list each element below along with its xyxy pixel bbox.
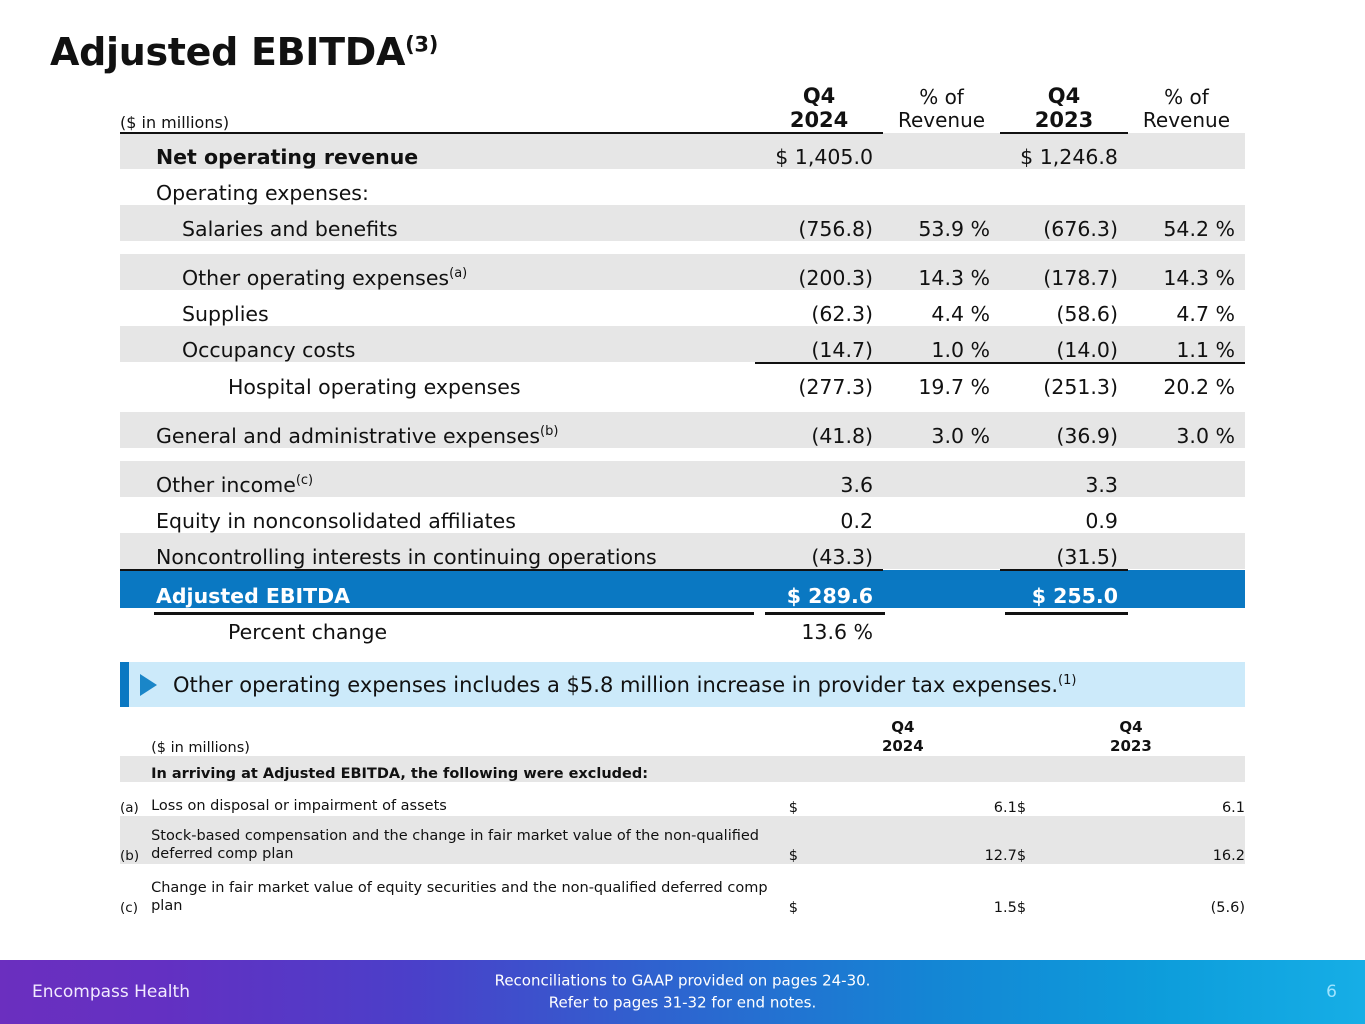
exclusions-intro-spacer: [120, 756, 151, 782]
exclusions-header-spacer: [120, 718, 151, 756]
ebitda-double-rule-label: [154, 612, 754, 615]
exclusion-description: Stock-based compensation and the change …: [151, 816, 789, 864]
row-value-2024: $ 289.6: [755, 570, 883, 608]
row-value-2023: $ 255.0: [1000, 570, 1128, 608]
row-pct-2023: [1128, 133, 1245, 169]
row-pct-2024: [883, 497, 1000, 533]
row-spacer: [120, 241, 1245, 254]
row-pct-2023: 20.2 %: [1128, 363, 1245, 399]
callout-footnote-marker: (1): [1058, 673, 1076, 688]
row-value-2023: $ 1,246.8: [1000, 133, 1128, 169]
exclusion-row: (b) Stock-based compensation and the cha…: [120, 816, 1245, 864]
exclusion-marker: (c): [120, 864, 151, 916]
row-label: Net operating revenue: [120, 133, 755, 169]
table-row: Net operating revenue $ 1,405.0 $ 1,246.…: [120, 133, 1245, 169]
exclusions-header-2024-line1: Q4: [891, 718, 914, 736]
row-pct-2023: 4.7 %: [1128, 290, 1245, 326]
exclusion-value-2024: 12.7: [830, 816, 1017, 864]
row-value-2023: (36.9): [1000, 412, 1128, 448]
exclusion-currency-2024: $: [789, 864, 830, 916]
exclusion-value-2023: (5.6): [1058, 864, 1245, 916]
row-label-text: Other income: [156, 473, 296, 497]
table-row: Hospital operating expenses (277.3) 19.7…: [120, 363, 1245, 399]
row-label: Salaries and benefits: [120, 205, 755, 241]
row-pct-2023: [1128, 497, 1245, 533]
header-q4-2024-line1: Q4: [803, 84, 835, 108]
row-label: Equity in nonconsolidated affiliates: [120, 497, 755, 533]
page-number: 6: [1326, 982, 1337, 1002]
callout-accent-bar: [120, 662, 129, 707]
header-pct-2024-line2: Revenue: [898, 108, 985, 132]
table-row: Supplies (62.3) 4.4 % (58.6) 4.7 %: [120, 290, 1245, 326]
header-pct-revenue-2023: % of Revenue: [1128, 84, 1245, 132]
row-value-2024: 0.2: [755, 497, 883, 533]
adjusted-ebitda-total-row: Adjusted EBITDA $ 289.6 $ 255.0: [120, 570, 1245, 608]
row-pct-2024: [883, 461, 1000, 497]
row-label: Noncontrolling interests in continuing o…: [120, 533, 755, 569]
header-pct-2024-line1: % of: [919, 85, 964, 109]
header-pct-2023-line2: Revenue: [1143, 108, 1230, 132]
table-row: Other operating expenses(a) (200.3) 14.3…: [120, 254, 1245, 290]
ebitda-double-rule-v2: [1005, 612, 1128, 615]
exclusion-currency-2023: $: [1017, 816, 1058, 864]
row-spacer: [120, 399, 1245, 412]
row-value-2023: 3.3: [1000, 461, 1128, 497]
exclusions-header-2024-line2: 2024: [882, 737, 924, 755]
exclusion-description: Loss on disposal or impairment of assets: [151, 782, 789, 816]
row-label: Operating expenses:: [120, 169, 755, 205]
row-value-2024: 3.6: [755, 461, 883, 497]
exclusion-row: (a) Loss on disposal or impairment of as…: [120, 782, 1245, 816]
exclusion-value-2023: 16.2: [1058, 816, 1245, 864]
row-spacer: [120, 448, 1245, 461]
row-pct-2024: 4.4 %: [883, 290, 1000, 326]
row-label: Hospital operating expenses: [120, 363, 755, 399]
callout-banner: Other operating expenses includes a $5.8…: [120, 662, 1245, 707]
ebitda-double-rule-v1: [765, 612, 885, 615]
exclusion-currency-2024: $: [789, 782, 830, 816]
row-pct-2023: 1.1 %: [1128, 326, 1245, 362]
row-label-text: Other operating expenses: [182, 266, 449, 290]
exclusion-currency-2023: $: [1017, 782, 1058, 816]
callout-text-body: Other operating expenses includes a $5.8…: [173, 673, 1058, 697]
exclusion-value-2024: 6.1: [830, 782, 1017, 816]
exclusions-header-q4-2024: Q4 2024: [789, 718, 1017, 756]
header-q4-2023: Q4 2023: [1000, 84, 1128, 132]
exclusions-header-row: ($ in millions) Q4 2024 Q4 2023: [120, 718, 1245, 756]
row-label: Other income(c): [120, 461, 755, 497]
footer-note-line2: Refer to pages 31-32 for end notes.: [549, 993, 816, 1011]
callout-text: Other operating expenses includes a $5.8…: [173, 673, 1076, 697]
exclusion-currency-2023: $: [1017, 864, 1058, 916]
slide-footer: Encompass Health Reconciliations to GAAP…: [0, 960, 1365, 1024]
header-pct-revenue-2024: % of Revenue: [883, 84, 1000, 132]
exclusions-table: ($ in millions) Q4 2024 Q4 2023 In arriv…: [120, 718, 1245, 916]
row-value-2024: (43.3): [755, 533, 883, 569]
row-value-2023: (14.0): [1000, 326, 1128, 362]
header-q4-2024: Q4 2024: [755, 84, 883, 132]
row-pct-2024: 14.3 %: [883, 254, 1000, 290]
row-pct-2023: [1128, 169, 1245, 205]
table-row: General and administrative expenses(b) (…: [120, 412, 1245, 448]
table-row: Occupancy costs (14.7) 1.0 % (14.0) 1.1 …: [120, 326, 1245, 362]
exclusions-intro-row: In arriving at Adjusted EBITDA, the foll…: [120, 756, 1245, 782]
row-pct-2023: 54.2 %: [1128, 205, 1245, 241]
row-label: Other operating expenses(a): [120, 254, 755, 290]
row-pct-2024: [883, 533, 1000, 569]
page-title-text: Adjusted EBITDA: [50, 30, 405, 74]
row-value-2024: (756.8): [755, 205, 883, 241]
row-value-2024: (200.3): [755, 254, 883, 290]
exclusion-description: Change in fair market value of equity se…: [151, 864, 789, 916]
exclusions-intro-text: In arriving at Adjusted EBITDA, the foll…: [151, 756, 1245, 782]
adjusted-ebitda-table: ($ in millions) Q4 2024 % of Revenue Q4 …: [120, 84, 1245, 644]
row-label: Adjusted EBITDA: [120, 570, 755, 608]
row-label-footnote-marker: (a): [449, 266, 467, 281]
page-title: Adjusted EBITDA(3): [50, 30, 438, 74]
row-label: Supplies: [120, 290, 755, 326]
row-label-footnote-marker: (c): [296, 473, 313, 488]
exclusions-units-label: ($ in millions): [151, 718, 789, 756]
units-label: ($ in millions): [120, 84, 755, 132]
row-pct-2024: 1.0 %: [883, 326, 1000, 362]
row-value-2023: 0.9: [1000, 497, 1128, 533]
row-value-2023: (676.3): [1000, 205, 1128, 241]
row-value-2024: (41.8): [755, 412, 883, 448]
table-row: Salaries and benefits (756.8) 53.9 % (67…: [120, 205, 1245, 241]
row-label-footnote-marker: (b): [540, 424, 558, 439]
row-pct-2023: [1128, 461, 1245, 497]
header-pct-2023-line1: % of: [1164, 85, 1209, 109]
exclusions-header-q4-2023: Q4 2023: [1017, 718, 1245, 756]
row-pct-2023: [1128, 533, 1245, 569]
row-value-2024: $ 1,405.0: [755, 133, 883, 169]
row-value-2024: (277.3): [755, 363, 883, 399]
row-label: Occupancy costs: [120, 326, 755, 362]
row-pct-2023: [1128, 608, 1245, 644]
footer-note: Reconciliations to GAAP provided on page…: [0, 970, 1365, 1014]
table-row: Equity in nonconsolidated affiliates 0.2…: [120, 497, 1245, 533]
exclusion-row: (c) Change in fair market value of equit…: [120, 864, 1245, 916]
row-value-2023: (58.6): [1000, 290, 1128, 326]
table-header-row: ($ in millions) Q4 2024 % of Revenue Q4 …: [120, 84, 1245, 132]
exclusions-header-2023-line2: 2023: [1110, 737, 1152, 755]
exclusion-value-2023: 6.1: [1058, 782, 1245, 816]
exclusions-header-2023-line1: Q4: [1119, 718, 1142, 736]
row-value-2024: [755, 169, 883, 205]
table-row: Noncontrolling interests in continuing o…: [120, 533, 1245, 569]
row-value-2024: (14.7): [755, 326, 883, 362]
header-q4-2024-line2: 2024: [790, 108, 848, 132]
header-q4-2023-line2: 2023: [1035, 108, 1093, 132]
play-triangle-icon: [140, 674, 157, 696]
row-value-2023: (31.5): [1000, 533, 1128, 569]
table-row: Operating expenses:: [120, 169, 1245, 205]
row-pct-2023: 3.0 %: [1128, 412, 1245, 448]
row-value-2023: (178.7): [1000, 254, 1128, 290]
row-label-text: General and administrative expenses: [156, 424, 540, 448]
row-pct-2024: [883, 133, 1000, 169]
exclusion-value-2024: 1.5: [830, 864, 1017, 916]
row-value-2023: (251.3): [1000, 363, 1128, 399]
row-pct-2024: 53.9 %: [883, 205, 1000, 241]
row-pct-2023: 14.3 %: [1128, 254, 1245, 290]
row-pct-2024: 3.0 %: [883, 412, 1000, 448]
page-title-superscript: (3): [405, 32, 438, 56]
row-pct-2024: [883, 169, 1000, 205]
footer-note-line1: Reconciliations to GAAP provided on page…: [495, 971, 871, 989]
row-pct-2024: 19.7 %: [883, 363, 1000, 399]
row-value-2024: (62.3): [755, 290, 883, 326]
row-value-2023: [1000, 169, 1128, 205]
row-pct-2024: [883, 608, 1000, 644]
exclusion-marker: (b): [120, 816, 151, 864]
header-q4-2023-line1: Q4: [1048, 84, 1080, 108]
row-pct-2023: [1128, 570, 1245, 608]
exclusion-currency-2024: $: [789, 816, 830, 864]
row-label: General and administrative expenses(b): [120, 412, 755, 448]
table-row: Other income(c) 3.6 3.3: [120, 461, 1245, 497]
exclusion-marker: (a): [120, 782, 151, 816]
row-pct-2024: [883, 570, 1000, 608]
slide: Adjusted EBITDA(3) ($ in millions) Q4 20…: [0, 0, 1365, 1024]
